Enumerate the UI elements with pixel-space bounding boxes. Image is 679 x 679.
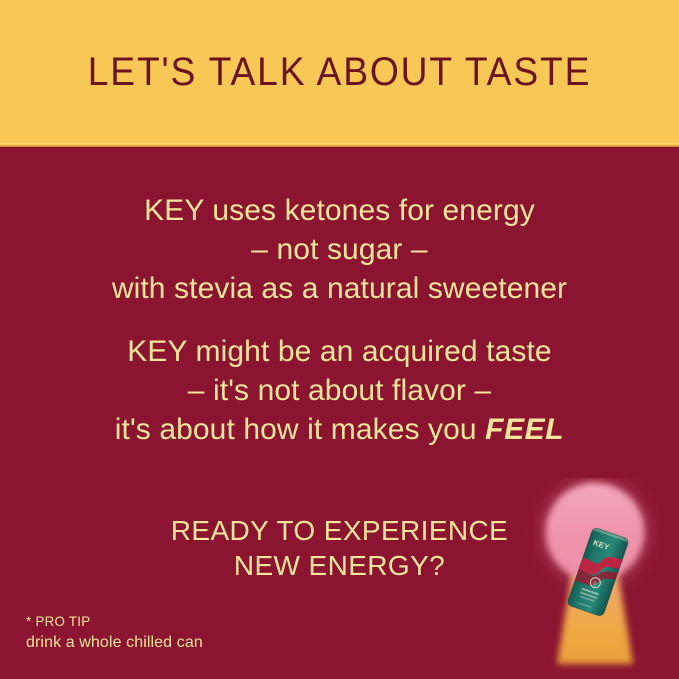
call-to-action: READY TO EXPERIENCE NEW ENERGY? — [0, 513, 679, 583]
paragraph-line: with stevia as a natural sweetener — [0, 269, 679, 308]
paragraph-line: KEY might be an acquired taste — [0, 332, 679, 371]
paragraph-line: – not sugar – — [0, 230, 679, 269]
paragraph-line: KEY uses ketones for energy — [0, 191, 679, 230]
paragraph-line-with-emphasis: it's about how it makes you FEEL — [0, 410, 679, 449]
cta-line-2: NEW ENERGY? — [0, 548, 679, 583]
pro-tip-body: drink a whole chilled can — [26, 632, 203, 654]
paragraph-line: – it's not about flavor – — [0, 371, 679, 410]
cta-line-1: READY TO EXPERIENCE — [0, 513, 679, 548]
pro-tip: * PRO TIP drink a whole chilled can — [26, 611, 203, 654]
page-title: LET'S TALK ABOUT TASTE — [24, 48, 655, 96]
paragraph-line-text: it's about how it makes you — [115, 413, 485, 446]
paragraph-ketones: KEY uses ketones for energy – not sugar … — [0, 191, 679, 308]
poster-canvas: KEY 0 LET'S TALK ABOUT TASTE KEY uses ke… — [0, 0, 679, 679]
header-band-edge — [0, 143, 679, 147]
pro-tip-heading: * PRO TIP — [26, 611, 194, 632]
emphasis-feel: FEEL — [485, 413, 564, 446]
paragraph-acquired-taste: KEY might be an acquired taste – it's no… — [0, 332, 679, 449]
